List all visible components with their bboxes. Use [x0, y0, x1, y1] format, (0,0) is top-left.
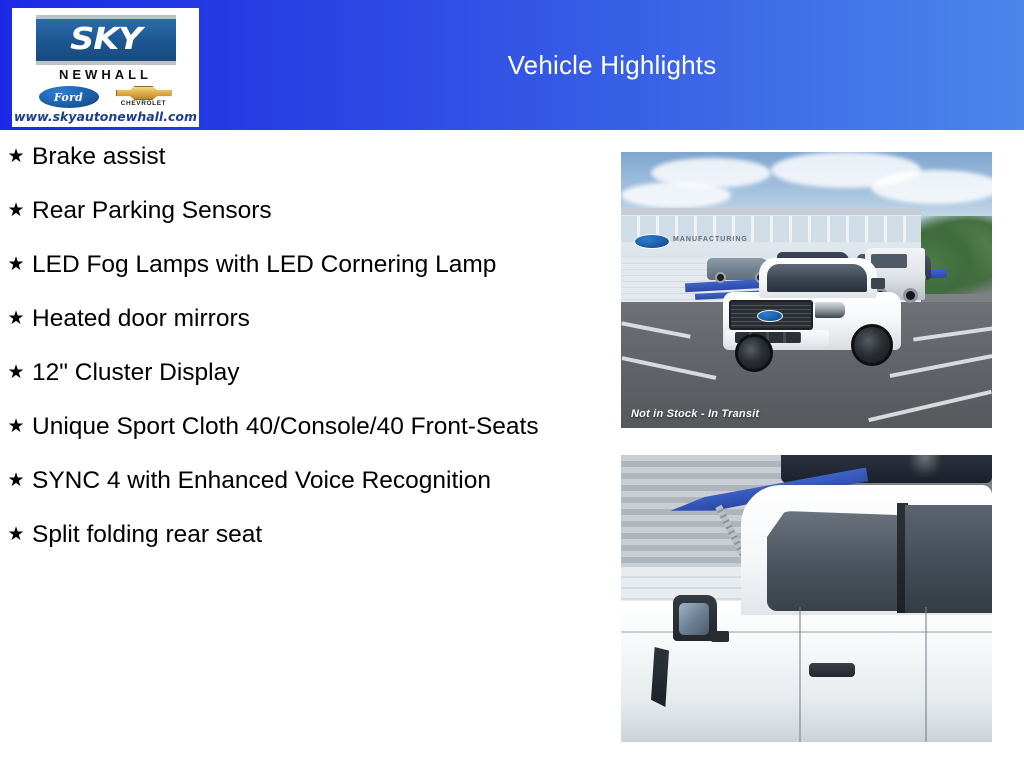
list-item: ★ Split folding rear seat — [0, 518, 560, 551]
sky-brand-text: SKY — [70, 25, 141, 55]
cloud-shape — [621, 182, 731, 208]
cloud-shape — [871, 170, 992, 204]
photo-caption: Not in Stock - In Transit — [631, 408, 759, 420]
star-bullet-icon: ★ — [0, 140, 32, 173]
ford-badge-label: Ford — [54, 91, 83, 104]
star-bullet-icon: ★ — [0, 302, 32, 335]
dealer-website-url[interactable]: www.skyautonewhall.com — [12, 109, 199, 124]
highlight-text: Heated door mirrors — [32, 302, 560, 335]
building-roofline — [621, 208, 921, 215]
ford-oval-icon: Ford — [38, 85, 100, 109]
page-title: Vehicle Highlights — [200, 0, 1024, 130]
highlight-text: Split folding rear seat — [32, 518, 560, 551]
truck-headlight — [815, 302, 845, 318]
star-bullet-icon: ★ — [0, 410, 32, 443]
chevrolet-badge-label: CHEVROLET — [114, 100, 174, 107]
star-bullet-icon: ★ — [0, 464, 32, 497]
ford-oval-badge-icon — [757, 310, 783, 322]
chevrolet-bowtie-icon — [116, 86, 172, 100]
dealer-location-text: NEWHALL — [12, 67, 199, 82]
highlight-text: LED Fog Lamps with LED Cornering Lamp — [32, 248, 560, 281]
list-item: ★ Brake assist — [0, 140, 560, 173]
truck-door-seam — [925, 607, 927, 742]
vehicle-photo-exterior-front[interactable]: MANUFACTURING Not in Stock - In Transit — [621, 152, 992, 428]
sky-logo-plate: SKY — [36, 15, 176, 65]
star-bullet-icon: ★ — [0, 248, 32, 281]
truck-wheel — [851, 324, 893, 366]
star-bullet-icon: ★ — [0, 194, 32, 227]
highlight-text: Rear Parking Sensors — [32, 194, 560, 227]
list-item: ★ LED Fog Lamps with LED Cornering Lamp — [0, 248, 560, 281]
vehicle-photo-door-closeup[interactable] — [621, 455, 992, 742]
featured-pickup-truck — [711, 258, 906, 378]
list-item: ★ Rear Parking Sensors — [0, 194, 560, 227]
highlight-text: Unique Sport Cloth 40/Console/40 Front-S… — [32, 410, 560, 443]
dealer-logo[interactable]: SKY NEWHALL Ford CHEVROLET www.skyautone… — [12, 8, 199, 127]
ford-building-sign-icon — [634, 234, 670, 249]
truck-windshield — [767, 264, 867, 292]
oem-badges: Ford CHEVROLET — [12, 84, 199, 110]
truck-mirror-glass — [679, 603, 709, 635]
truck-front-door-window — [767, 511, 897, 611]
truck-mirror-arm — [711, 631, 729, 642]
truck-door-handle — [809, 663, 855, 677]
truck-door-seam — [799, 607, 801, 742]
truck-wheel — [735, 334, 773, 372]
truck-rear-door-window — [905, 505, 992, 613]
list-item: ★ 12" Cluster Display — [0, 356, 560, 389]
carrier-upper-vehicle-wheel — [907, 455, 943, 477]
truck-side-mirror — [871, 278, 885, 289]
highlight-text: Brake assist — [32, 140, 560, 173]
star-bullet-icon: ★ — [0, 356, 32, 389]
building-sign-text: MANUFACTURING — [673, 236, 748, 243]
chevrolet-badge: CHEVROLET — [114, 84, 174, 110]
list-item: ★ Unique Sport Cloth 40/Console/40 Front… — [0, 410, 560, 443]
vehicle-highlights-list: ★ Brake assist ★ Rear Parking Sensors ★ … — [0, 140, 560, 572]
star-bullet-icon: ★ — [0, 518, 32, 551]
highlight-text: SYNC 4 with Enhanced Voice Recognition — [32, 464, 560, 497]
list-item: ★ Heated door mirrors — [0, 302, 560, 335]
dealer-logo-inner: SKY NEWHALL Ford CHEVROLET www.skyautone… — [12, 8, 199, 127]
list-item: ★ SYNC 4 with Enhanced Voice Recognition — [0, 464, 560, 497]
highlight-text: 12" Cluster Display — [32, 356, 560, 389]
